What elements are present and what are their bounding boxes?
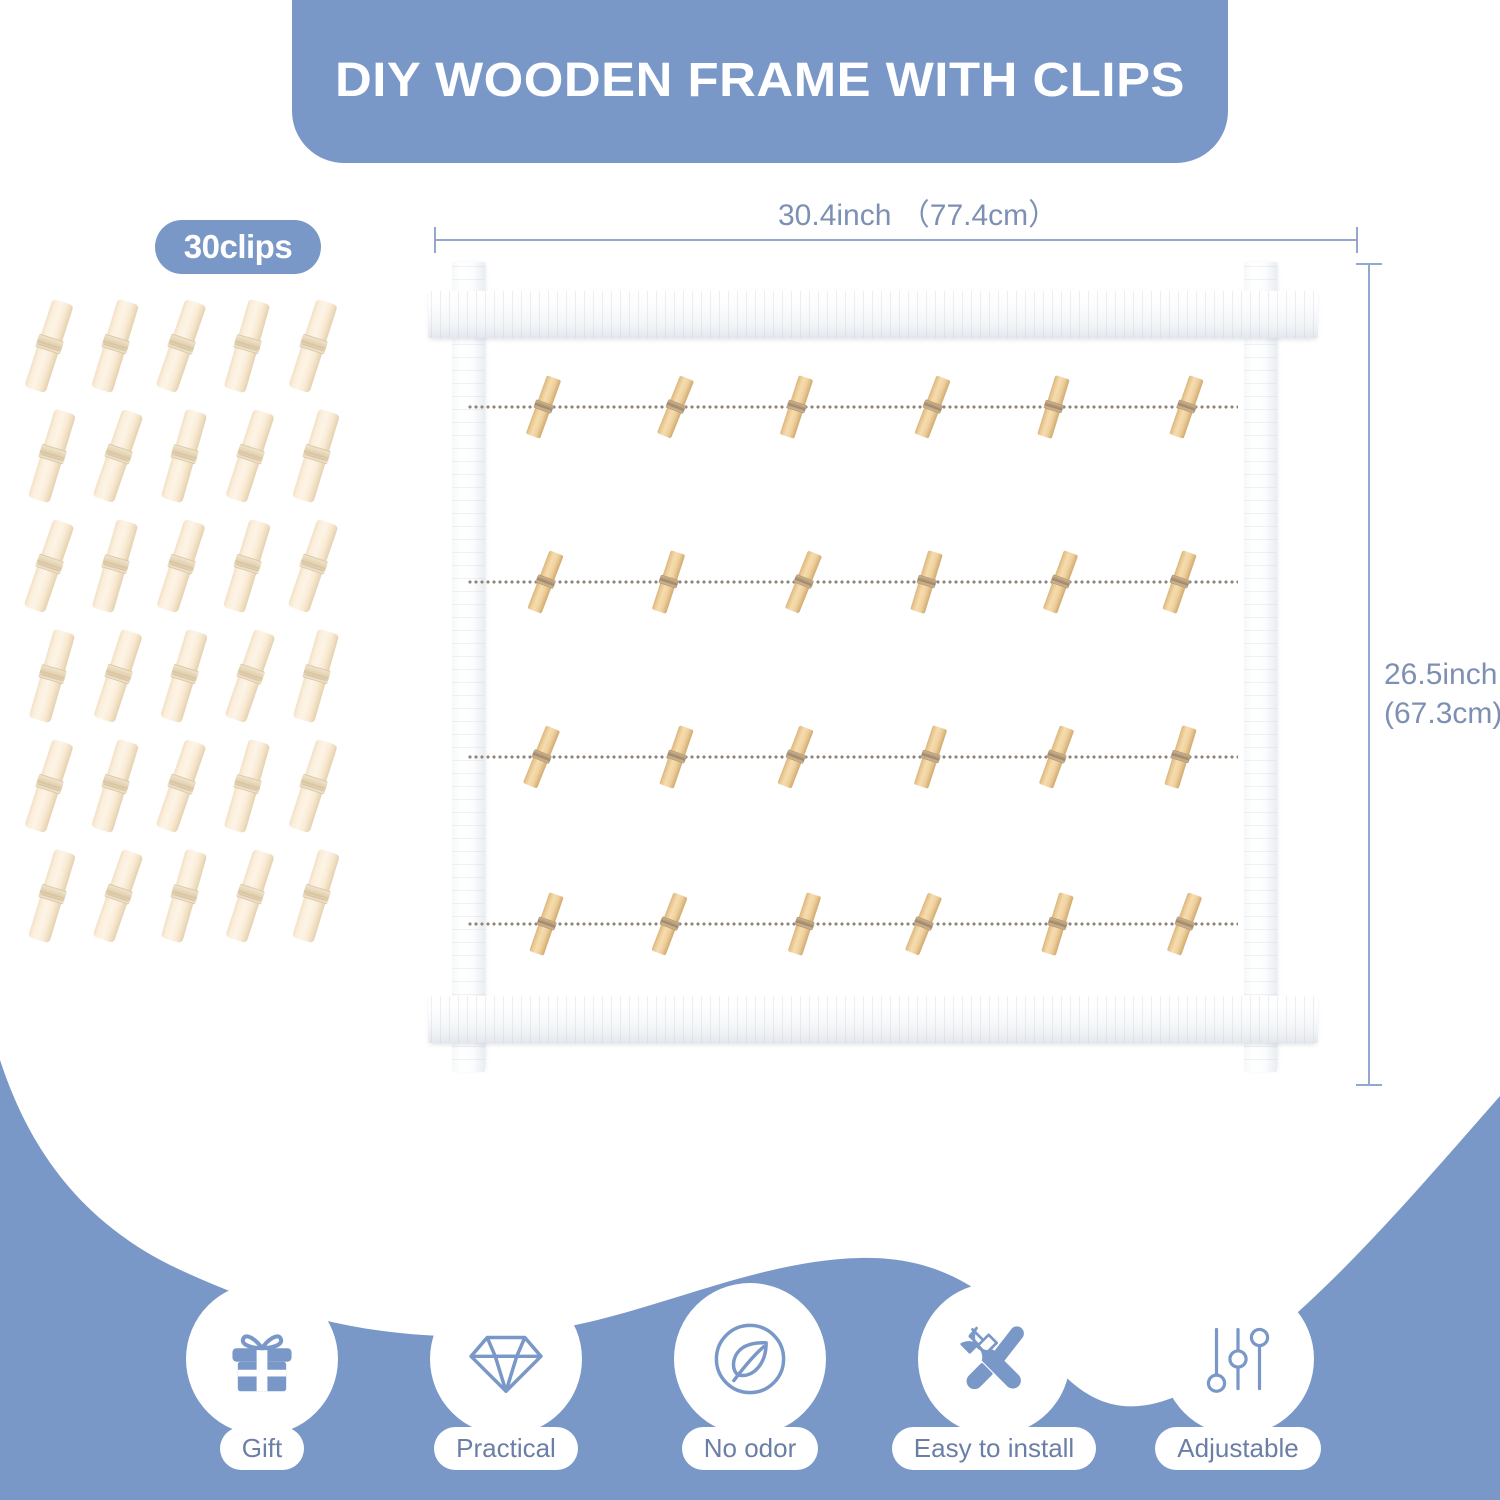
- loose-clip: [93, 629, 142, 723]
- wrench-screwdriver-icon: [951, 1316, 1037, 1402]
- title-banner: DIY WOODEN FRAME WITH CLIPS: [292, 0, 1228, 163]
- feature-label: Gift: [220, 1427, 304, 1470]
- beaded-cord: [468, 922, 1238, 926]
- clothespin-icon: [161, 409, 208, 504]
- clip-string-row: [468, 367, 1238, 447]
- feature-icon-circle: [430, 1283, 582, 1435]
- feature-label: Easy to install: [892, 1427, 1096, 1470]
- beaded-cord: [468, 405, 1238, 409]
- clothespin-icon: [24, 299, 73, 393]
- loose-clip: [156, 519, 205, 613]
- loose-clip: [223, 519, 271, 613]
- clothespin-icon: [156, 519, 205, 613]
- clothespin-icon: [156, 739, 207, 833]
- clothespin-icon: [92, 519, 139, 614]
- sliders-icon: [1195, 1316, 1281, 1402]
- loose-clip: [91, 739, 139, 833]
- clothespin-icon: [292, 849, 340, 943]
- loose-clip: [288, 519, 339, 613]
- feature-icon-circle: [674, 1283, 826, 1435]
- clothespin-icon: [225, 629, 276, 723]
- loose-clip: [156, 299, 207, 393]
- clothespin-icon: [223, 519, 271, 613]
- clothespin-icon: [93, 849, 144, 943]
- feature-badge-gift[interactable]: Gift: [182, 1283, 342, 1470]
- loose-clips-grid: [38, 300, 378, 980]
- beaded-cord: [468, 580, 1238, 584]
- clips-count-label: 30clips: [184, 228, 292, 266]
- frame-beam-bottom: [428, 996, 1318, 1043]
- clothespin-icon: [224, 299, 271, 394]
- clothespin-icon: [24, 519, 75, 613]
- loose-clip: [225, 629, 276, 723]
- frame-beam-top: [428, 291, 1318, 338]
- clothespin-icon: [28, 849, 76, 943]
- feature-label: Adjustable: [1155, 1427, 1320, 1470]
- clothespin-icon: [288, 519, 339, 613]
- clothespin-icon: [288, 299, 337, 393]
- loose-clip: [225, 849, 274, 943]
- clothespin-icon: [224, 739, 271, 834]
- loose-clip: [28, 849, 76, 943]
- feature-badge-no-odor[interactable]: No odor: [670, 1283, 830, 1470]
- loose-clip: [24, 519, 75, 613]
- loose-clip: [161, 849, 208, 944]
- gift-box-icon: [219, 1316, 305, 1402]
- frame-post-right: [1244, 262, 1277, 1072]
- loose-clip: [24, 739, 73, 833]
- clothespin-icon: [288, 739, 337, 833]
- loose-clip: [91, 299, 139, 393]
- clip-string-row: [468, 884, 1238, 964]
- feature-icon-circle: [1162, 1283, 1314, 1435]
- feature-label: Practical: [434, 1427, 578, 1470]
- clips-count-badge: 30clips: [155, 220, 321, 274]
- height-dimension-cm: (67.3cm): [1384, 694, 1500, 733]
- width-dimension-label: 30.4inch （77.4cm）: [778, 190, 1058, 234]
- loose-clip: [160, 629, 208, 723]
- loose-clip: [92, 519, 139, 614]
- clothespin-icon: [161, 849, 208, 944]
- loose-clip: [93, 409, 144, 503]
- loose-clip: [29, 629, 76, 724]
- height-dimension-line: [1368, 263, 1370, 1086]
- clip-string-row: [468, 717, 1238, 797]
- loose-clip: [288, 739, 337, 833]
- feature-label: No odor: [682, 1427, 819, 1470]
- clothespin-icon: [293, 629, 340, 724]
- clothespin-icon: [91, 299, 139, 393]
- clothespin-icon: [29, 629, 76, 724]
- leaf-in-circle-icon: [707, 1316, 793, 1402]
- feature-icon-circle: [918, 1283, 1070, 1435]
- feature-badges-row: Gift Practical No odor Easy to install A…: [0, 1283, 1500, 1500]
- wooden-frame: [428, 262, 1318, 1072]
- feature-badge-easy-to-install[interactable]: Easy to install: [914, 1283, 1074, 1470]
- height-dimension-inch: 26.5inch: [1384, 655, 1500, 694]
- loose-clip: [224, 299, 271, 394]
- clothespin-icon: [160, 629, 208, 723]
- clothespin-icon: [91, 739, 139, 833]
- loose-clip: [28, 409, 76, 503]
- clothespin-icon: [292, 409, 340, 503]
- feature-icon-circle: [186, 1283, 338, 1435]
- loose-clip: [293, 629, 340, 724]
- width-dimension-line: [434, 239, 1358, 241]
- diamond-icon: [463, 1316, 549, 1402]
- clip-string-row: [468, 542, 1238, 622]
- loose-clip: [292, 409, 340, 503]
- loose-clip: [161, 409, 208, 504]
- clothespin-icon: [24, 739, 73, 833]
- feature-badge-practical[interactable]: Practical: [426, 1283, 586, 1470]
- height-dimension-label: 26.5inch (67.3cm): [1384, 655, 1500, 733]
- loose-clip: [24, 299, 73, 393]
- clothespin-icon: [93, 409, 144, 503]
- loose-clip: [93, 849, 144, 943]
- loose-clip: [288, 299, 337, 393]
- loose-clip: [224, 739, 271, 834]
- loose-clip: [292, 849, 340, 943]
- clothespin-icon: [156, 299, 207, 393]
- clothespin-icon: [93, 629, 142, 723]
- clothespin-icon: [28, 409, 76, 503]
- loose-clip: [156, 739, 207, 833]
- loose-clip: [225, 409, 274, 503]
- beaded-cord: [468, 755, 1238, 759]
- clothespin-icon: [225, 409, 274, 503]
- clothespin-icon: [225, 849, 274, 943]
- page-title: DIY WOODEN FRAME WITH CLIPS: [335, 53, 1185, 108]
- feature-badge-adjustable[interactable]: Adjustable: [1158, 1283, 1318, 1470]
